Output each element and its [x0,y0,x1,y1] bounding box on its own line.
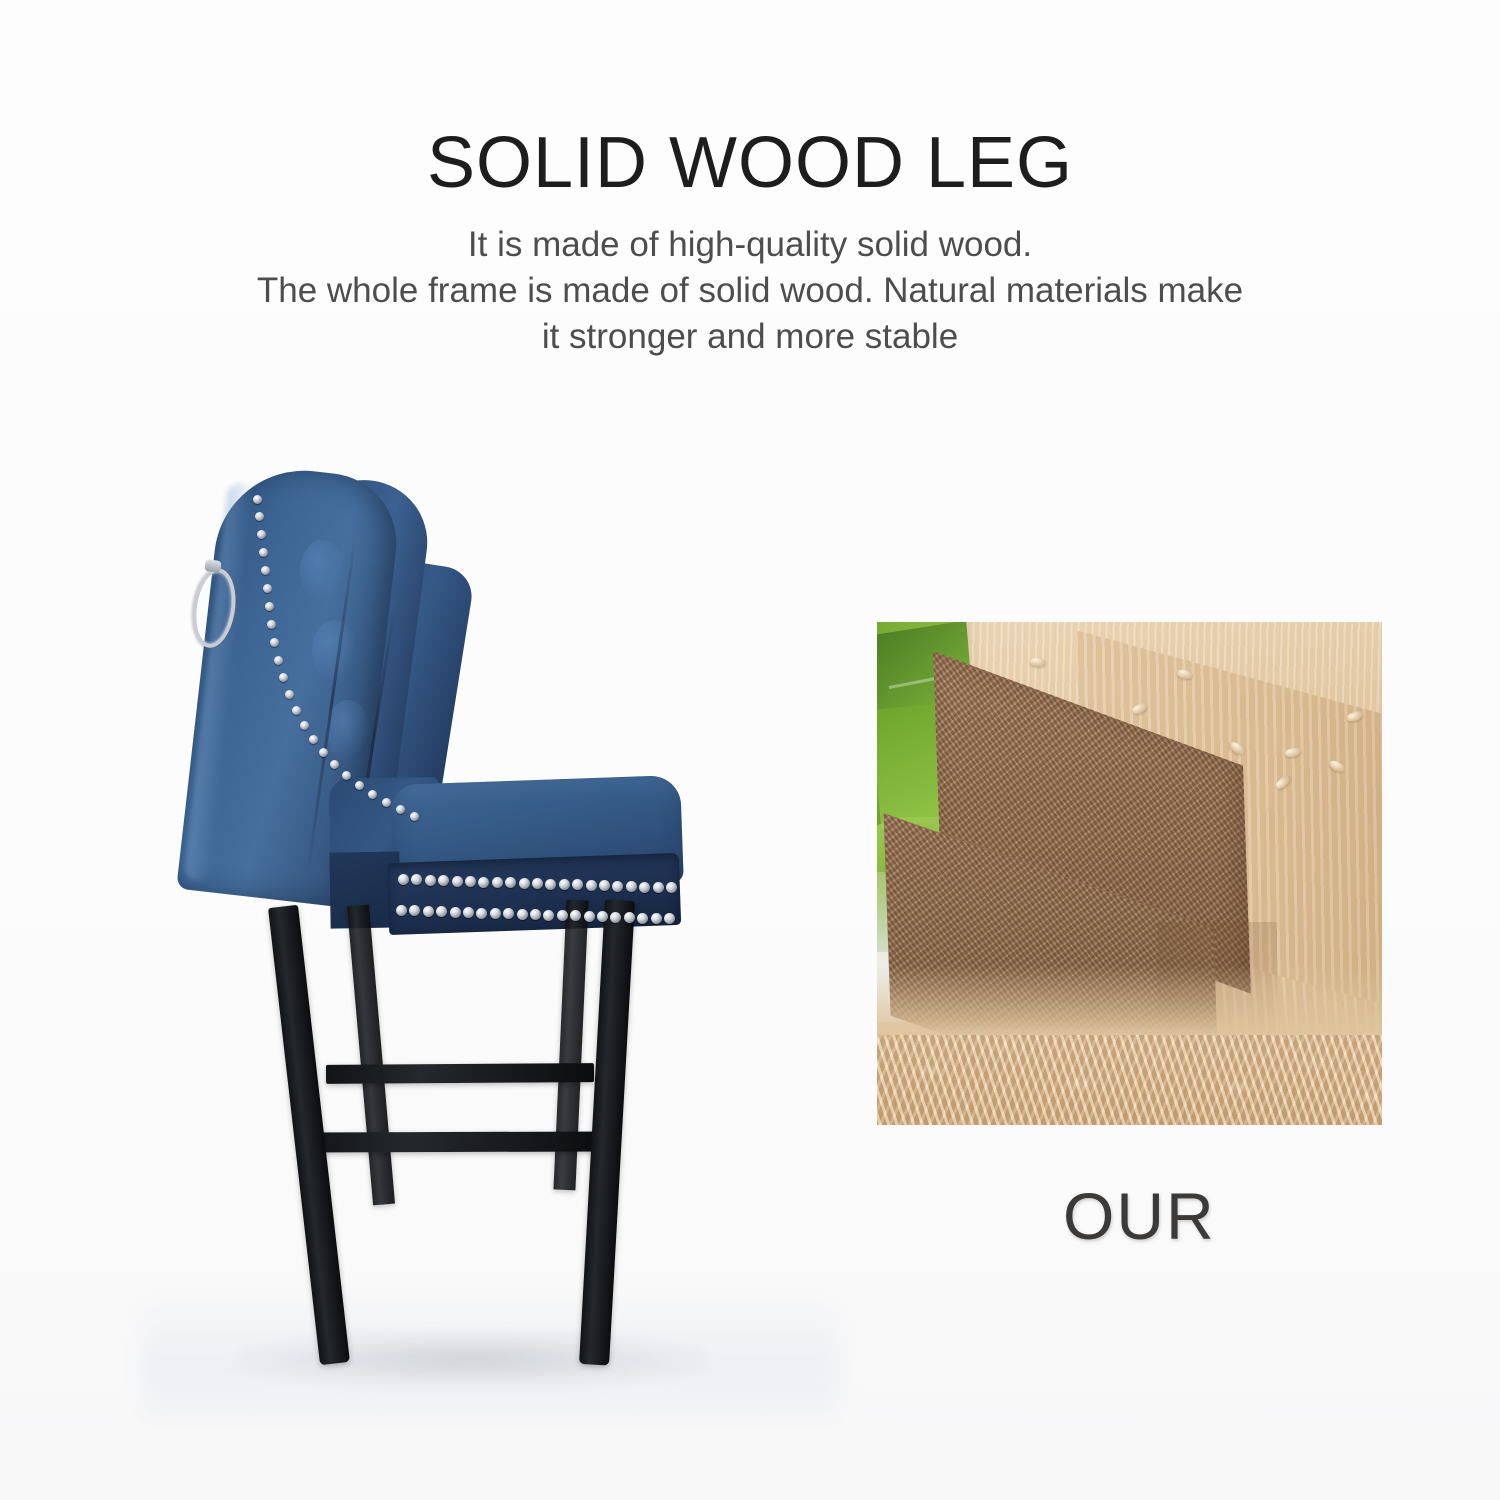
nailhead-stud [342,771,351,780]
nailhead-stud [274,656,283,665]
nailhead-stud [519,878,530,889]
nailhead-stud [330,760,339,769]
nailhead-stud [545,879,556,890]
nailhead-stud [452,876,463,887]
nailhead-stud [382,798,391,807]
tuft-button [326,700,370,762]
nailhead-stud [319,748,328,757]
nailhead-stud [450,907,461,918]
nailhead-stud [368,790,377,799]
tuft-button [300,540,344,602]
nailhead-stud [543,910,554,921]
nailhead-stud [653,882,664,893]
nailhead-stud [261,566,270,575]
nailhead-stud [267,620,276,629]
nailhead-stud [253,495,262,504]
nailhead-stud [639,882,650,893]
nailhead-stud [285,690,294,699]
nailhead-stud [626,881,637,892]
seat-apron [387,853,681,935]
nailhead-stud [300,721,309,730]
nailhead-stud [624,912,635,923]
nailhead-stud [517,909,528,920]
nailhead-stud [279,673,288,682]
chair-leg-back-left [347,905,395,1206]
nailhead-stud [425,875,436,886]
nailhead-stud [559,879,570,890]
nailhead-stud [265,602,274,611]
stretcher-rail-lower [300,1131,610,1152]
floor-shadow [236,1330,706,1388]
bar-stool-product-photo [0,0,1500,1500]
nailhead-stud [637,913,648,924]
nailhead-stud [292,706,301,715]
nailhead-stud [257,530,266,539]
nailhead-stud [476,908,487,919]
nailhead-stud [270,638,279,647]
nailhead-stud [557,910,568,921]
nailhead-stud [263,584,272,593]
nailhead-stud [478,877,489,888]
nailhead-stud [490,908,501,919]
nailhead-stud [259,548,268,557]
nailhead-stud [398,874,409,885]
product-feature-page: SOLID WOOD LEG It is made of high-qualit… [0,0,1500,1500]
ring-pull-mount [204,559,222,573]
nailhead-stud [396,905,407,916]
nailhead-stud [586,880,597,891]
nailhead-stud [492,877,503,888]
nailhead-stud [309,735,318,744]
nailhead-stud [423,906,434,917]
nailhead-stud [584,911,595,922]
nailhead-stud [410,812,419,821]
nailhead-stud [355,781,364,790]
nailhead-stud [396,805,405,814]
nailhead-stud [255,512,264,521]
stretcher-rail-upper [326,1063,594,1084]
nailhead-stud [651,913,662,924]
